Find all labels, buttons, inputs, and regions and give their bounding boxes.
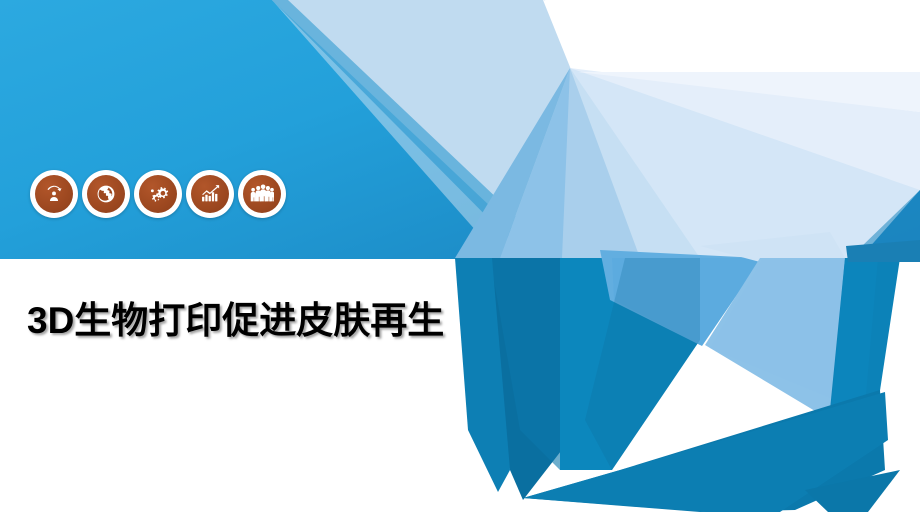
slide-canvas: 数智创新 变革未来 [0,0,920,518]
tagline: 数智创新 变革未来 [713,28,896,49]
people-group-icon [243,175,281,213]
icon-badge-recycle-person[interactable] [30,170,78,218]
globe-icon [87,175,125,213]
polygon-artwork [0,0,920,518]
recycle-person-icon [35,175,73,213]
icon-badge-gears[interactable] [134,170,182,218]
icon-badge-bar-chart[interactable] [186,170,234,218]
icon-badge-people-group[interactable] [238,170,286,218]
icon-badge-globe[interactable] [82,170,130,218]
icon-row [30,170,288,218]
gears-icon [139,175,177,213]
page-title: 3D生物打印促进皮肤再生 [27,299,444,343]
bar-chart-icon [191,175,229,213]
